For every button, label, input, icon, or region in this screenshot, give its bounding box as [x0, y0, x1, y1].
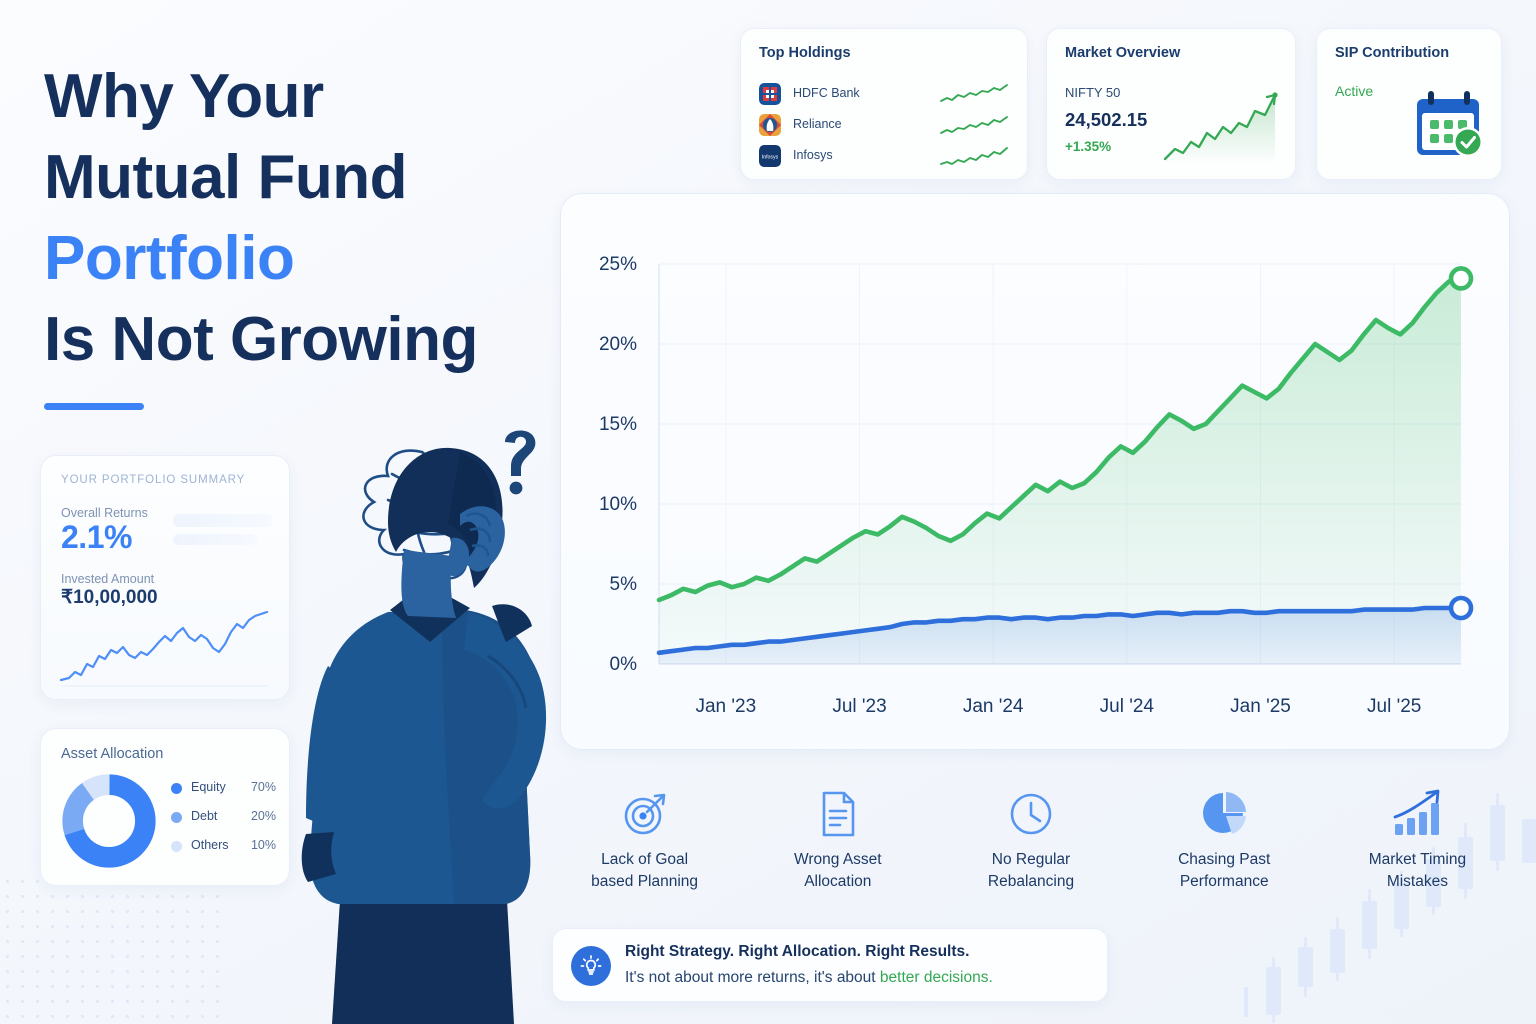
reason-label-line1: No Regular — [934, 849, 1127, 871]
legend-value: 10% — [251, 838, 276, 852]
reason-chasing-past-performance[interactable]: Chasing Past Performance — [1128, 786, 1321, 901]
ghost-placeholder-bar — [173, 514, 273, 527]
index-name: NIFTY 50 — [1065, 85, 1120, 100]
page-title: Why Your Mutual Fund Portfolio Is Not Gr… — [44, 56, 584, 380]
index-value: 24,502.15 — [1065, 109, 1147, 131]
reason-label-line1: Market Timing — [1321, 849, 1514, 871]
hdfc-bank-logo-icon — [759, 83, 781, 105]
closing-message-banner: Right Strategy. Right Allocation. Right … — [552, 928, 1108, 1002]
svg-text:15%: 15% — [599, 414, 637, 435]
reasons-row: Lack of Goal based Planning Wrong Asset … — [548, 786, 1514, 901]
uptrend-area-sparkline-icon — [1161, 87, 1285, 167]
holding-name: Reliance — [793, 117, 842, 131]
legend-swatch-debt — [171, 812, 182, 823]
headline-line-4: Is Not Growing — [44, 299, 584, 380]
banner-subtitle: It's not about more returns, it's about … — [625, 969, 993, 987]
reason-lack-of-goal-based-planning[interactable]: Lack of Goal based Planning — [548, 786, 741, 901]
holding-name: HDFC Bank — [793, 86, 860, 100]
target-arrow-icon — [548, 786, 741, 842]
legend-item: Debt 20% — [171, 804, 276, 833]
legend-label: Equity — [191, 780, 226, 794]
overall-returns-value: 2.1% — [61, 519, 132, 556]
reason-label-line1: Chasing Past — [1128, 849, 1321, 871]
legend-value: 70% — [251, 780, 276, 794]
svg-text:Jul '24: Jul '24 — [1100, 696, 1155, 717]
headline-line-3: Portfolio — [44, 218, 584, 299]
reason-label-line2: Performance — [1128, 871, 1321, 893]
banner-title: Right Strategy. Right Allocation. Right … — [625, 943, 969, 961]
legend-label: Others — [191, 838, 229, 852]
legend-swatch-others — [171, 841, 182, 852]
svg-text:20%: 20% — [599, 334, 637, 355]
portfolio-summary-card: YOUR PORTFOLIO SUMMARY close-icon Overal… — [40, 455, 290, 700]
legend-label: Debt — [191, 809, 217, 823]
reason-label-line2: Mistakes — [1321, 871, 1514, 893]
legend-item: Equity 70% — [171, 775, 276, 804]
holding-name: Infosys — [793, 148, 833, 162]
lightbulb-icon — [571, 946, 611, 986]
sip-contribution-card: SIP Contribution Active — [1316, 28, 1502, 180]
holding-row[interactable]: Infosys Infosys — [759, 143, 1011, 169]
summary-card-header: YOUR PORTFOLIO SUMMARY — [61, 474, 245, 486]
dot-grid-pattern — [0, 874, 220, 1024]
reason-label-line2: Allocation — [741, 871, 934, 893]
clock-icon — [934, 786, 1127, 842]
holdings-card-title: Top Holdings — [759, 45, 851, 61]
top-holdings-card: Top Holdings HDFC Bank Reliance Infosys … — [740, 28, 1028, 180]
reason-label-line2: Rebalancing — [934, 871, 1127, 893]
performance-comparison-chart-card: 0%5%10%15%20%25% Jan '23Jul '23Jan '24Ju… — [560, 193, 1510, 750]
sip-card-title: SIP Contribution — [1335, 45, 1449, 61]
poster-canvas: Why Your Mutual Fund Portfolio Is Not Gr… — [0, 0, 1536, 1024]
svg-text:0%: 0% — [610, 654, 638, 675]
svg-text:5%: 5% — [610, 574, 638, 595]
document-lines-icon — [741, 786, 934, 842]
uptrend-sparkline-icon — [939, 144, 1011, 168]
reason-market-timing-mistakes[interactable]: Market Timing Mistakes — [1321, 786, 1514, 901]
legend-item: Others 10% — [171, 833, 276, 862]
invested-amount-label: Invested Amount — [61, 572, 154, 586]
market-card-title: Market Overview — [1065, 45, 1180, 61]
infosys-logo-icon: Infosys — [759, 145, 781, 167]
performance-comparison-chart[interactable]: 0%5%10%15%20%25% Jan '23Jul '23Jan '24Ju… — [561, 194, 1511, 751]
legend-swatch-equity — [171, 783, 182, 794]
index-change: +1.35% — [1065, 139, 1111, 154]
portfolio-sparkline-chart — [55, 606, 277, 691]
reason-no-regular-rebalancing[interactable]: No Regular Rebalancing — [934, 786, 1127, 901]
svg-text:Jan '24: Jan '24 — [963, 696, 1024, 717]
allocation-card-title: Asset Allocation — [61, 746, 163, 762]
holding-row[interactable]: HDFC Bank — [759, 81, 1011, 107]
svg-text:Jan '23: Jan '23 — [695, 696, 756, 717]
svg-text:25%: 25% — [599, 254, 637, 275]
reason-label-line1: Wrong Asset — [741, 849, 934, 871]
reason-label-line1: Lack of Goal — [548, 849, 741, 871]
bar-chart-arrow-icon — [1321, 786, 1514, 842]
svg-text:10%: 10% — [599, 494, 637, 515]
title-underline-rule — [44, 403, 144, 410]
svg-text:Jul '25: Jul '25 — [1367, 696, 1421, 717]
svg-text:Jan '25: Jan '25 — [1230, 696, 1291, 717]
uptrend-sparkline-icon — [939, 82, 1011, 106]
pie-chart-icon — [61, 773, 157, 869]
legend-value: 20% — [251, 809, 276, 823]
banner-subtitle-plain: It's not about more returns, it's about — [625, 969, 880, 986]
headline-line-2: Mutual Fund — [44, 137, 584, 218]
reason-label-line2: based Planning — [548, 871, 741, 893]
ghost-placeholder-bar — [173, 534, 257, 545]
svg-text:Jul '23: Jul '23 — [832, 696, 886, 717]
reliance-logo-icon — [759, 114, 781, 136]
uptrend-sparkline-icon — [939, 113, 1011, 137]
question-mark-icon — [505, 430, 535, 494]
banner-subtitle-accent: better decisions. — [880, 969, 993, 986]
svg-text:Infosys: Infosys — [762, 155, 779, 161]
allocation-legend: Equity 70% Debt 20% Others 10% — [171, 775, 276, 862]
headline-line-1: Why Your — [44, 56, 584, 137]
reason-wrong-asset-allocation[interactable]: Wrong Asset Allocation — [741, 786, 934, 901]
pie-chart-icon — [1128, 786, 1321, 842]
asset-allocation-card: Asset Allocation Equity 70% Debt 20% Oth… — [40, 728, 290, 886]
sip-status-badge: Active — [1335, 83, 1373, 99]
calendar-check-icon — [1411, 87, 1487, 163]
holding-row[interactable]: Reliance — [759, 112, 1011, 138]
market-overview-card: Market Overview NIFTY 50 24,502.15 +1.35… — [1046, 28, 1296, 180]
overall-returns-label: Overall Returns — [61, 506, 148, 520]
